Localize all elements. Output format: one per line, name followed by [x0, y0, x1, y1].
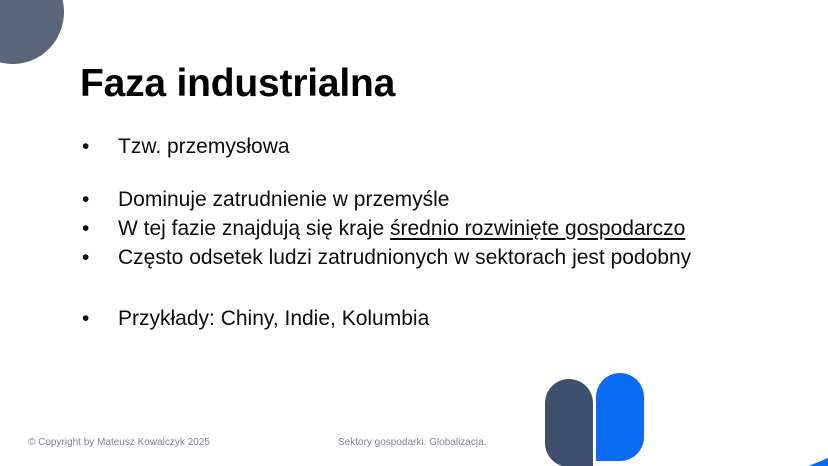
footer-subject: Sektory gospodarki. Globalizacja.	[338, 437, 486, 448]
slide-title: Faza industrialna	[80, 62, 395, 106]
bullet-marker-icon: •	[74, 308, 118, 329]
list-spacer	[74, 157, 804, 189]
bullet-text: W tej fazie znajdują się kraje średnio r…	[118, 218, 804, 239]
bullet-text: Przykłady: Chiny, Indie, Kolumbia	[118, 308, 804, 329]
bullet-text: Dominuje zatrudnienie w przemyśle	[118, 189, 804, 210]
bullet-marker-icon: •	[74, 189, 118, 210]
bullet-text-underlined: średnio rozwinięte gospodarczo	[390, 217, 685, 240]
list-item: • Przykłady: Chiny, Indie, Kolumbia	[74, 308, 804, 329]
bullet-text: Tzw. przemysłowa	[118, 136, 804, 157]
bullet-text: Często odsetek ludzi zatrudnionych w sek…	[118, 247, 804, 268]
list-item: • Dominuje zatrudnienie w przemyśle	[74, 189, 804, 210]
bullet-list: • Tzw. przemysłowa • Dominuje zatrudnien…	[74, 136, 804, 329]
bullet-marker-icon: •	[74, 218, 118, 239]
page-number: 6	[786, 437, 792, 449]
list-item: • W tej fazie znajdują się kraje średnio…	[74, 218, 804, 239]
list-item: • Tzw. przemysłowa	[74, 136, 804, 157]
bullet-marker-icon: •	[74, 136, 118, 157]
list-item: • Często odsetek ludzi zatrudnionych w s…	[74, 247, 804, 268]
bullet-text-plain: W tej fazie znajdują się kraje	[118, 217, 390, 240]
bullet-marker-icon: •	[74, 247, 118, 268]
footer-copyright: © Copyright by Mateusz Kowalczyk 2025	[28, 437, 210, 448]
slide-canvas: Faza industrialna • Tzw. przemysłowa • D…	[0, 0, 828, 466]
slide-content: Faza industrialna • Tzw. przemysłowa • D…	[0, 0, 828, 466]
list-spacer	[74, 268, 804, 300]
